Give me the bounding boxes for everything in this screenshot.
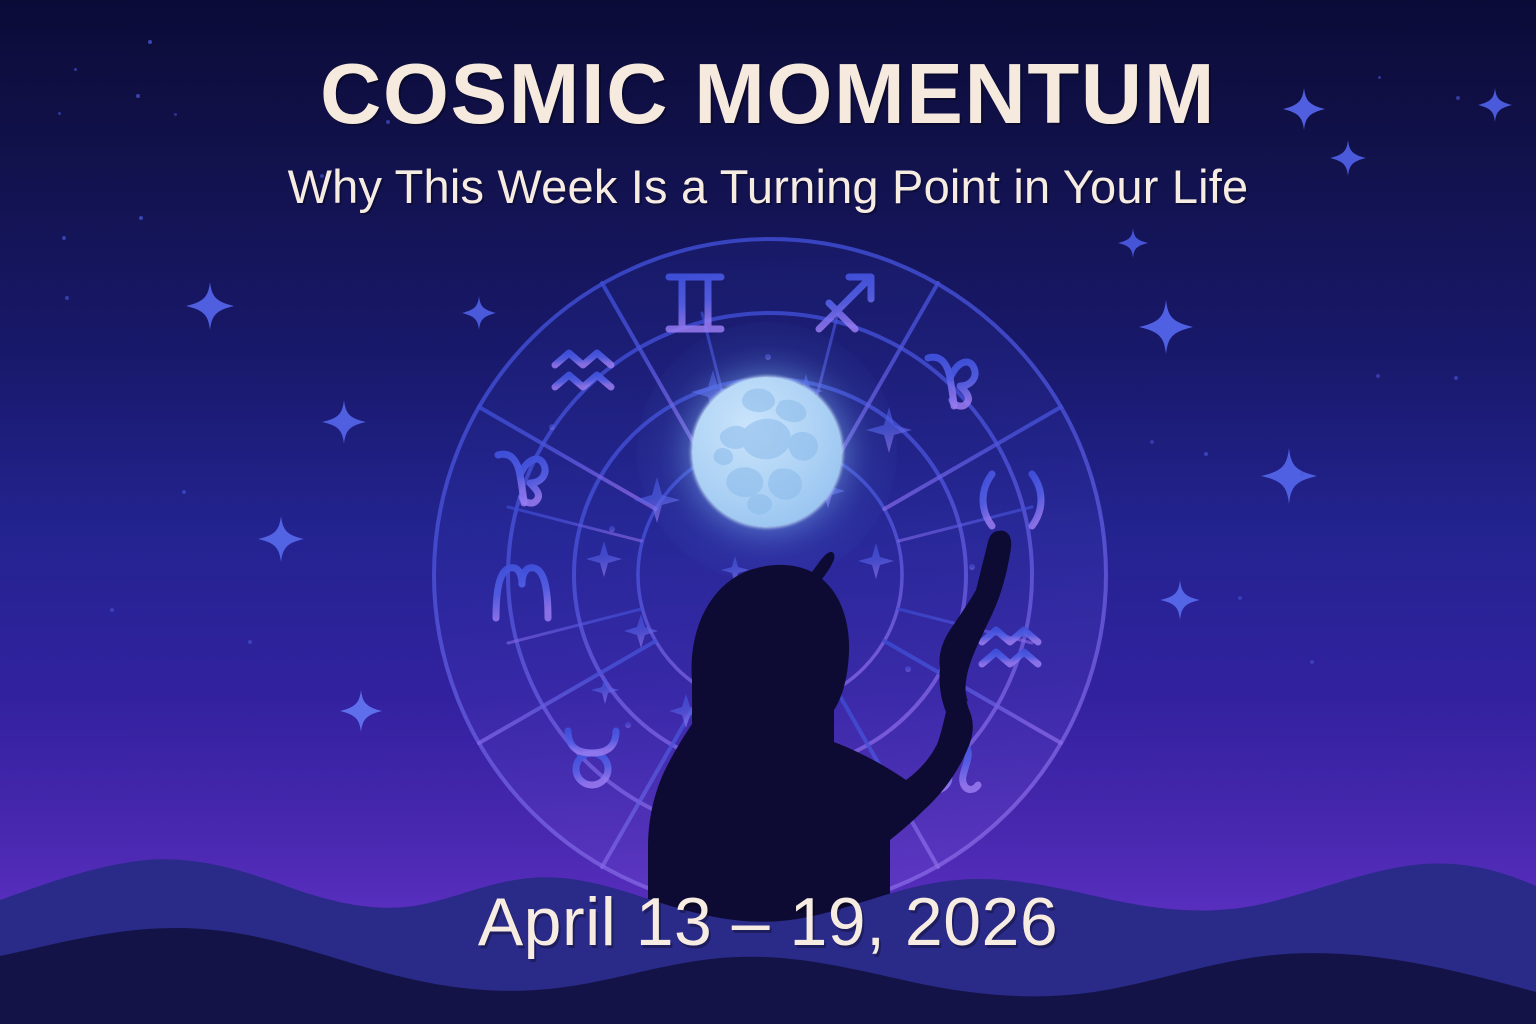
page-title: COSMIC MOMENTUM xyxy=(0,52,1536,137)
page-subtitle: Why This Week Is a Turning Point in Your… xyxy=(0,163,1536,210)
date-range-label: April 13 – 19, 2026 xyxy=(0,888,1536,956)
horoscope-poster: COSMIC MOMENTUM Why This Week Is a Turni… xyxy=(0,0,1536,1024)
text-layer: COSMIC MOMENTUM Why This Week Is a Turni… xyxy=(0,0,1536,1024)
